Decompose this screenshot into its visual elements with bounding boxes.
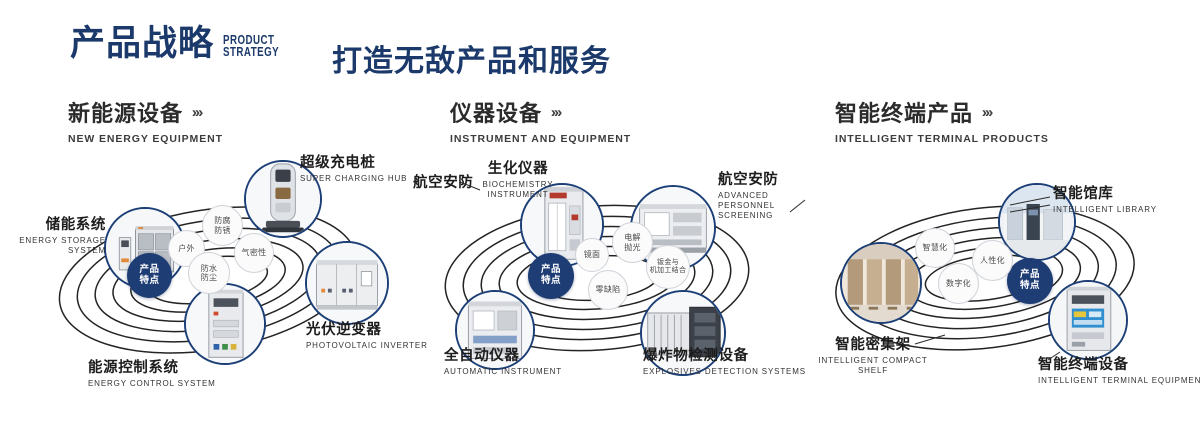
label-terminal-equipment: 智能终端设备 INTELLIGENT TERMINAL EQUIPMENT (1038, 357, 1200, 386)
pv-inverter-cabinet-icon (307, 243, 387, 323)
feature-bubble: 防腐 防锈 (202, 205, 243, 246)
core-badge-product-features: 产品 特点 (528, 253, 574, 299)
label-cn: 航空安防 (413, 175, 473, 192)
label-en: AUTOMATIC INSTRUMENT (444, 367, 562, 377)
feature-bubble: 智慧化 (915, 228, 955, 268)
feature-line-1: 防水 (201, 264, 218, 273)
label-compact-shelf: 智能密集架 INTELLIGENT COMPACT SHELF (818, 337, 928, 376)
control-cabinet-icon (186, 285, 264, 363)
feature-line-1: 钣金与 (650, 259, 687, 267)
section-title-instrument: 仪器设备 ››› INSTRUMENT AND EQUIPMENT (450, 96, 631, 145)
feature-line-1: 人性化 (980, 256, 1005, 265)
feature-line-1: 气密性 (242, 248, 267, 257)
feature-line-1: 零缺陷 (596, 285, 621, 294)
section-1-label-cn: 新能源设备 (68, 96, 183, 128)
feature-line-2: 防尘 (201, 273, 218, 282)
node-pv-inverter[interactable] (305, 241, 389, 325)
label-en: EXPLOSIVES DETECTION SYSTEMS (643, 367, 806, 377)
label-aviation-security-left: 航空安防 (413, 175, 473, 192)
feature-line-1: 数字化 (946, 279, 971, 288)
brand-title-en: PRODUCT STRATEGY (223, 34, 279, 60)
feature-line-1: 防腐 (214, 216, 231, 225)
feature-bubble: 数字化 (938, 263, 979, 304)
brand-title-cn: 产品战略 (70, 26, 214, 61)
feature-line-2: 机加工结合 (650, 267, 687, 275)
chevron-right-icon: ››› (192, 104, 201, 121)
core-badge-product-features: 产品 特点 (127, 253, 172, 298)
feature-bubble: 钣金与 机加工结合 (646, 245, 690, 289)
section-2-label-en: INSTRUMENT AND EQUIPMENT (450, 133, 631, 145)
feature-line-1: 智慧化 (923, 243, 948, 252)
brand-title-en-line2: STRATEGY (223, 46, 279, 59)
label-cn: 能源控制系统 (88, 360, 216, 377)
feature-line-2: 抛光 (624, 243, 641, 252)
label-cn: 生化仪器 (470, 161, 566, 178)
feature-line-2: 防锈 (214, 226, 231, 235)
label-energy-storage: 储能系统 ENERGY STORAGE SYSTEM (0, 217, 106, 256)
label-en: BIOCHEMISTRY INSTRUMENT (470, 180, 566, 200)
feature-bubble: 镜面 (575, 238, 609, 272)
core-line-2: 特点 (139, 276, 159, 287)
section-title-intelligent-terminal: 智能终端产品 ››› INTELLIGENT TERMINAL PRODUCTS (835, 96, 1049, 145)
feature-line-1: 户外 (178, 244, 195, 253)
label-biochemistry-instrument: 生化仪器 BIOCHEMISTRY INSTRUMENT (470, 161, 566, 200)
core-line-2: 特点 (1020, 281, 1040, 292)
label-en: ENERGY STORAGE SYSTEM (0, 236, 106, 256)
label-cn: 全自动仪器 (444, 348, 562, 365)
section-3-label-en: INTELLIGENT TERMINAL PRODUCTS (835, 133, 1049, 145)
section-3-label-cn: 智能终端产品 (835, 96, 973, 128)
feature-bubble: 防水 防尘 (188, 252, 230, 294)
compact-shelf-icon (842, 244, 920, 322)
node-compact-shelf[interactable] (840, 242, 922, 324)
feature-bubble: 电解 抛光 (612, 222, 653, 263)
headline: 打造无敌产品和服务 (332, 36, 611, 80)
label-en: INTELLIGENT TERMINAL EQUIPMENT (1038, 376, 1200, 386)
feature-bubble: 气密性 (234, 233, 274, 273)
brand-title-en-line1: PRODUCT (223, 34, 279, 47)
label-cn: 储能系统 (0, 217, 106, 234)
core-line-2: 特点 (541, 276, 561, 287)
section-2-label-cn: 仪器设备 (450, 96, 542, 128)
feature-line-1: 镜面 (584, 250, 601, 259)
label-explosives-detection: 爆炸物检测设备 EXPLOSIVES DETECTION SYSTEMS (643, 348, 806, 377)
label-energy-control-system: 能源控制系统 ENERGY CONTROL SYSTEM (88, 360, 216, 389)
label-en: SUPER CHARGING HUB (300, 174, 407, 184)
label-en: ENERGY CONTROL SYSTEM (88, 379, 216, 389)
terminal-kiosk-icon (1050, 282, 1126, 358)
core-line-1: 产品 (139, 265, 159, 276)
node-control-cabinet[interactable] (184, 283, 266, 365)
label-cn: 爆炸物检测设备 (643, 348, 806, 365)
label-cn: 智能终端设备 (1038, 357, 1200, 374)
feature-bubble: 人性化 (972, 240, 1013, 281)
section-1-label-en: NEW ENERGY EQUIPMENT (68, 133, 223, 145)
brand-header: 产品战略 PRODUCT STRATEGY (70, 26, 295, 61)
chevron-right-icon: ››› (551, 104, 560, 121)
section-title-new-energy: 新能源设备 ››› NEW ENERGY EQUIPMENT (68, 96, 223, 145)
node-terminal-kiosk[interactable] (1048, 280, 1128, 360)
label-en: INTELLIGENT LIBRARY (1053, 205, 1157, 215)
label-automatic-instrument: 全自动仪器 AUTOMATIC INSTRUMENT (444, 348, 562, 377)
label-charging-pile: 超级充电桩 SUPER CHARGING HUB (300, 155, 407, 184)
chevron-right-icon: ››› (982, 104, 991, 121)
label-cn: 智能馆库 (1053, 186, 1157, 203)
feature-line-1: 电解 (624, 233, 641, 242)
infographic-canvas: 产品战略 PRODUCT STRATEGY 打造无敌产品和服务 新能源设备 ››… (0, 0, 1200, 422)
feature-bubble: 零缺陷 (588, 270, 628, 310)
label-en: INTELLIGENT COMPACT SHELF (818, 356, 928, 376)
label-cn: 超级充电桩 (300, 155, 407, 172)
label-smart-library: 智能馆库 INTELLIGENT LIBRARY (1053, 186, 1157, 215)
core-badge-product-features: 产品 特点 (1007, 258, 1053, 304)
label-cn: 智能密集架 (818, 337, 928, 354)
